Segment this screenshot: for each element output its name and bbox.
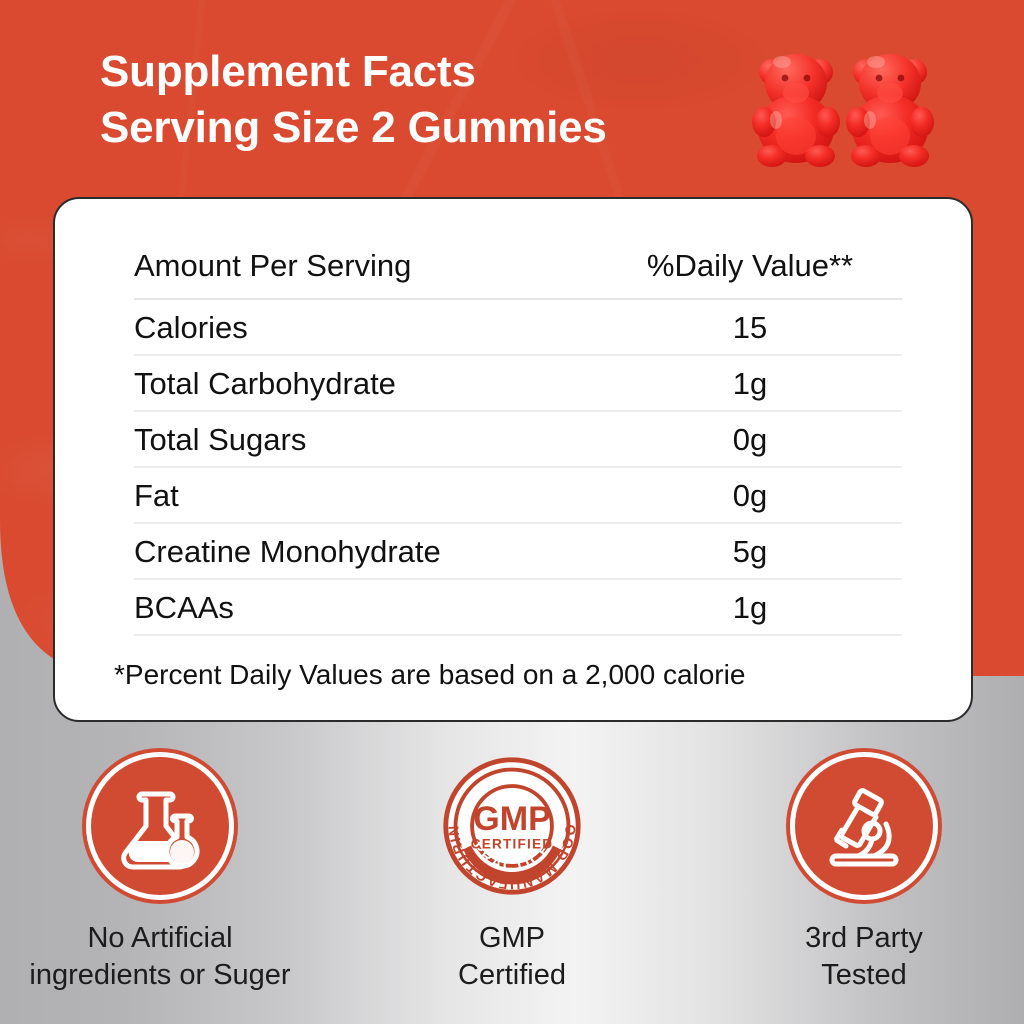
daily-value-footnote: *Percent Daily Values are based on a 2,0… <box>114 658 902 692</box>
gummy-bear-icon <box>752 36 844 168</box>
supplement-facts-table: Amount Per Serving %Daily Value** Calori… <box>134 232 902 636</box>
seal-center-text: GMP <box>473 800 551 838</box>
gmp-certified-seal-icon: GOOD MANUFACTURING PRACTICE GMP CERTIFIE… <box>438 750 586 902</box>
page-title-line2: Serving Size 2 Gummies <box>100 100 740 156</box>
badge-caption: No Artificial ingredients or Suger <box>29 920 290 994</box>
certification-badges: No Artificial ingredients or Suger <box>0 752 1024 994</box>
page-title-line1: Supplement Facts <box>100 44 740 100</box>
table-row: BCAAs 1g <box>134 579 902 635</box>
table-row: Total Sugars 0g <box>134 411 902 467</box>
nutrient-name: BCAAs <box>134 579 634 635</box>
nutrient-name: Total Carbohydrate <box>134 355 634 411</box>
nutrient-value: 1g <box>634 355 902 411</box>
nutrient-name: Total Sugars <box>134 411 634 467</box>
badge-caption-line2: Tested <box>805 957 923 994</box>
table-row: Calories 15 <box>134 299 902 355</box>
badge-medallion: GOOD MANUFACTURING PRACTICE GMP CERTIFIE… <box>438 752 586 900</box>
badge-medallion <box>86 752 234 900</box>
gummy-bears-decoration <box>748 36 948 176</box>
nutrient-name: Fat <box>134 467 634 523</box>
nutrient-value: 5g <box>634 523 902 579</box>
table-row: Total Carbohydrate 1g <box>134 355 902 411</box>
badge-caption-line1: GMP <box>458 920 566 957</box>
nutrient-value: 0g <box>634 411 902 467</box>
nutrient-value: 1g <box>634 579 902 635</box>
header: Supplement Facts Serving Size 2 Gummies <box>100 44 740 157</box>
table-row: Fat 0g <box>134 467 902 523</box>
badge-caption: 3rd Party Tested <box>805 920 923 994</box>
badge-medallion <box>790 752 938 900</box>
badge-caption-line2: Certified <box>458 957 566 994</box>
badge-no-artificial-ingredients: No Artificial ingredients or Suger <box>55 752 265 994</box>
nutrient-value: 0g <box>634 467 902 523</box>
nutrient-name: Calories <box>134 299 634 355</box>
table-header: Amount Per Serving %Daily Value** <box>134 232 902 299</box>
badge-3rd-party-tested: 3rd Party Tested <box>759 752 969 994</box>
table-row: Creatine Monohydrate 5g <box>134 523 902 579</box>
seal-center-subtext: CERTIFIED <box>471 836 553 851</box>
supplement-facts-panel: Supplement Facts Serving Size 2 Gummies <box>0 0 1024 1024</box>
badge-caption-line1: No Artificial <box>29 920 290 957</box>
table-header-row: Amount Per Serving %Daily Value** <box>134 232 902 299</box>
table-body: Calories 15 Total Carbohydrate 1g Total … <box>134 299 902 635</box>
microscope-icon <box>816 778 912 874</box>
nutrient-name: Creatine Monohydrate <box>134 523 634 579</box>
badge-gmp-certified: GOOD MANUFACTURING PRACTICE GMP CERTIFIE… <box>407 752 617 994</box>
column-header-daily-value: %Daily Value** <box>634 232 902 299</box>
badge-caption-line1: 3rd Party <box>805 920 923 957</box>
badge-caption: GMP Certified <box>458 920 566 994</box>
gummy-bear-icon <box>846 36 938 168</box>
badge-caption-line2: ingredients or Suger <box>29 957 290 994</box>
supplement-facts-card: Amount Per Serving %Daily Value** Calori… <box>53 197 973 722</box>
column-header-amount-per-serving: Amount Per Serving <box>134 232 634 299</box>
facts-inner: Amount Per Serving %Daily Value** Calori… <box>134 232 902 692</box>
nutrient-value: 15 <box>634 299 902 355</box>
flask-beaker-icon <box>112 778 208 874</box>
